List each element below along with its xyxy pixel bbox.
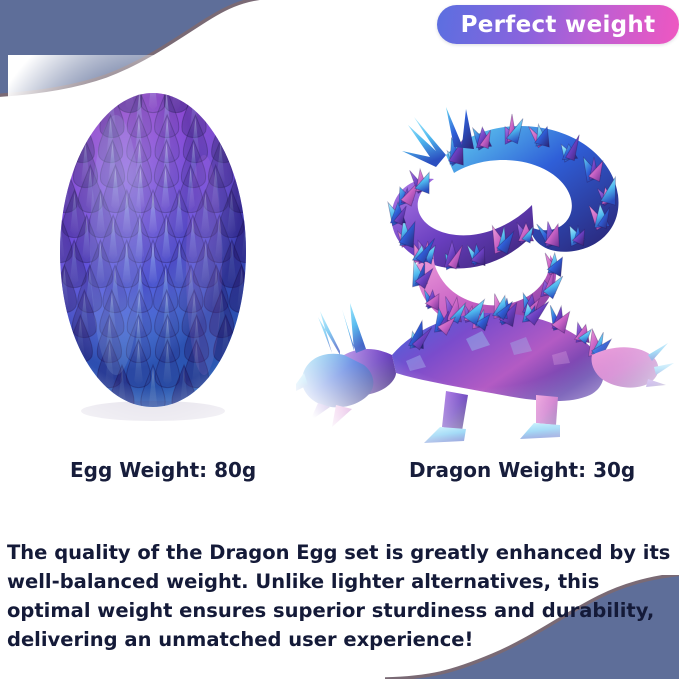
description-paragraph: The quality of the Dragon Egg set is gre… [7, 538, 675, 654]
product-infographic: Perfect weight [0, 0, 679, 679]
dragon-crystal-body [296, 107, 674, 443]
dragon-egg-image [8, 55, 298, 445]
dragon-weight-caption: Dragon Weight: 30g [409, 458, 635, 482]
status-badge: Perfect weight [437, 5, 679, 44]
egg-weight-caption: Egg Weight: 80g [70, 458, 256, 482]
egg-figure [8, 55, 298, 445]
dragon-figure [296, 55, 679, 445]
badge-label: Perfect weight [461, 12, 656, 38]
crystal-dragon-image [296, 55, 679, 445]
product-images-row [0, 55, 679, 445]
